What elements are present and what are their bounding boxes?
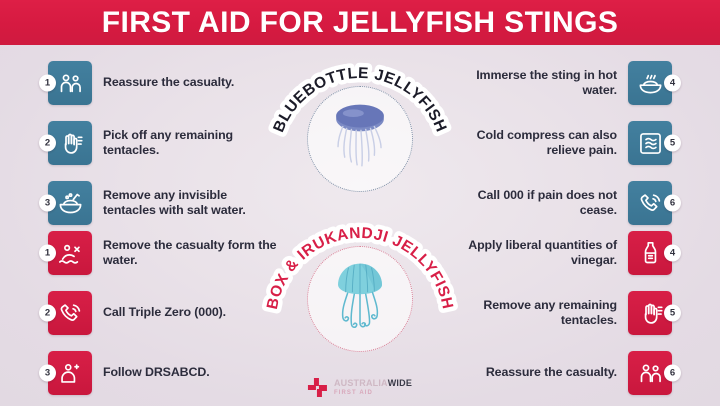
step-number-badge: 5 (664, 135, 681, 152)
two-people-icon (57, 70, 84, 97)
list-item: 3 Follow DRSABCD. (48, 348, 278, 398)
list-item: Call 000 if pain does not cease. 6 (442, 178, 672, 228)
step-icon-tile: 6 (628, 181, 672, 225)
bluebottle-illustration-disc (307, 86, 413, 192)
cold-compress-icon (637, 130, 664, 157)
step-text: Call 000 if pain does not cease. (442, 188, 617, 218)
step-icon-tile: 4 (628, 61, 672, 105)
step-number-badge: 2 (39, 135, 56, 152)
step-number-badge: 5 (664, 305, 681, 322)
step-icon-tile: 1 (48, 61, 92, 105)
step-number-badge: 4 (664, 245, 681, 262)
brand-australia: AUSTRALIA (334, 378, 388, 388)
bluebottle-left-steps: 1 Reassure the casualty. 2 Pick off (48, 58, 278, 238)
step-number-badge: 6 (664, 195, 681, 212)
step-icon-tile: 1 (48, 231, 92, 275)
list-item: Apply liberal quantities of vinegar. 4 (442, 228, 672, 278)
step-text: Cold compress can also relieve pain. (442, 128, 617, 158)
list-item: Remove any remaining tentacles. 5 (442, 288, 672, 338)
step-text: Call Triple Zero (000). (103, 305, 226, 320)
list-item: 1 Remove the casualty form the water. (48, 228, 278, 278)
step-number-badge: 1 (39, 245, 56, 262)
step-number-badge: 4 (664, 75, 681, 92)
step-text: Reassure the casualty. (103, 75, 234, 90)
step-text: Remove the casualty form the water. (103, 238, 278, 268)
cpr-person-icon (57, 360, 84, 387)
page-title: FIRST AID FOR JELLYFISH STINGS (102, 8, 619, 38)
step-icon-tile: 5 (628, 291, 672, 335)
list-item: 3 Remove any invisible tentacles with sa… (48, 178, 278, 228)
list-item: Immerse the sting in hot water. 4 (442, 58, 672, 108)
bluebottle-jellyfish-icon (321, 96, 399, 182)
step-icon-tile: 3 (48, 181, 92, 225)
list-item: 2 Call Triple Zero (000). (48, 288, 278, 338)
step-text: Apply liberal quantities of vinegar. (442, 238, 617, 268)
vinegar-bottle-icon (637, 240, 664, 267)
step-text: Immerse the sting in hot water. (442, 68, 617, 98)
step-icon-tile: 2 (48, 291, 92, 335)
brand-line-2: FIRST AID (334, 390, 412, 396)
step-text: Remove any invisible tentacles with salt… (103, 188, 278, 218)
step-text: Follow DRSABCD. (103, 365, 210, 380)
step-text: Reassure the casualty. (486, 365, 617, 380)
two-people-icon (637, 360, 664, 387)
brand-line-1: AUSTRALIAWIDE (334, 379, 412, 388)
step-icon-tile: 2 (48, 121, 92, 165)
step-icon-tile: 5 (628, 121, 672, 165)
bluebottle-right-steps: Immerse the sting in hot water. 4 Cold c… (442, 58, 672, 238)
step-number-badge: 6 (664, 365, 681, 382)
box-irukandji-left-steps: 1 Remove the casualty form the water. 2 … (48, 228, 278, 406)
step-text: Remove any remaining tentacles. (442, 298, 617, 328)
brand-logo: AUSTRALIAWIDE FIRST AID (308, 378, 412, 397)
hot-water-bowl-icon (637, 70, 664, 97)
phone-call-icon (57, 300, 84, 327)
poster-header: FIRST AID FOR JELLYFISH STINGS (0, 0, 720, 45)
box-irukandji-illustration-disc (307, 246, 413, 352)
list-item: Cold compress can also relieve pain. 5 (442, 118, 672, 168)
phone-call-icon (637, 190, 664, 217)
step-number-badge: 2 (39, 305, 56, 322)
step-number-badge: 3 (39, 365, 56, 382)
hand-tentacles-icon (57, 130, 84, 157)
step-icon-tile: 6 (628, 351, 672, 395)
infographic-poster: FIRST AID FOR JELLYFISH STINGS 1 Reassur… (0, 0, 720, 406)
step-number-badge: 1 (39, 75, 56, 92)
brand-wide: WIDE (388, 378, 412, 388)
hand-tentacles-icon (637, 300, 664, 327)
rescue-from-water-icon (57, 240, 84, 267)
box-jellyfish-icon (321, 256, 399, 342)
step-text: Pick off any remaining tentacles. (103, 128, 278, 158)
step-icon-tile: 4 (628, 231, 672, 275)
first-aid-cross-icon (308, 378, 327, 397)
step-icon-tile: 3 (48, 351, 92, 395)
brand-wordmark: AUSTRALIAWIDE FIRST AID (334, 379, 412, 396)
list-item: Reassure the casualty. 6 (442, 348, 672, 398)
box-irukandji-right-steps: Apply liberal quantities of vinegar. 4 R… (442, 228, 672, 406)
step-number-badge: 3 (39, 195, 56, 212)
bowl-salt-water-icon (57, 190, 84, 217)
list-item: 2 Pick off any remaining tentacles. (48, 118, 278, 168)
list-item: 1 Reassure the casualty. (48, 58, 278, 108)
